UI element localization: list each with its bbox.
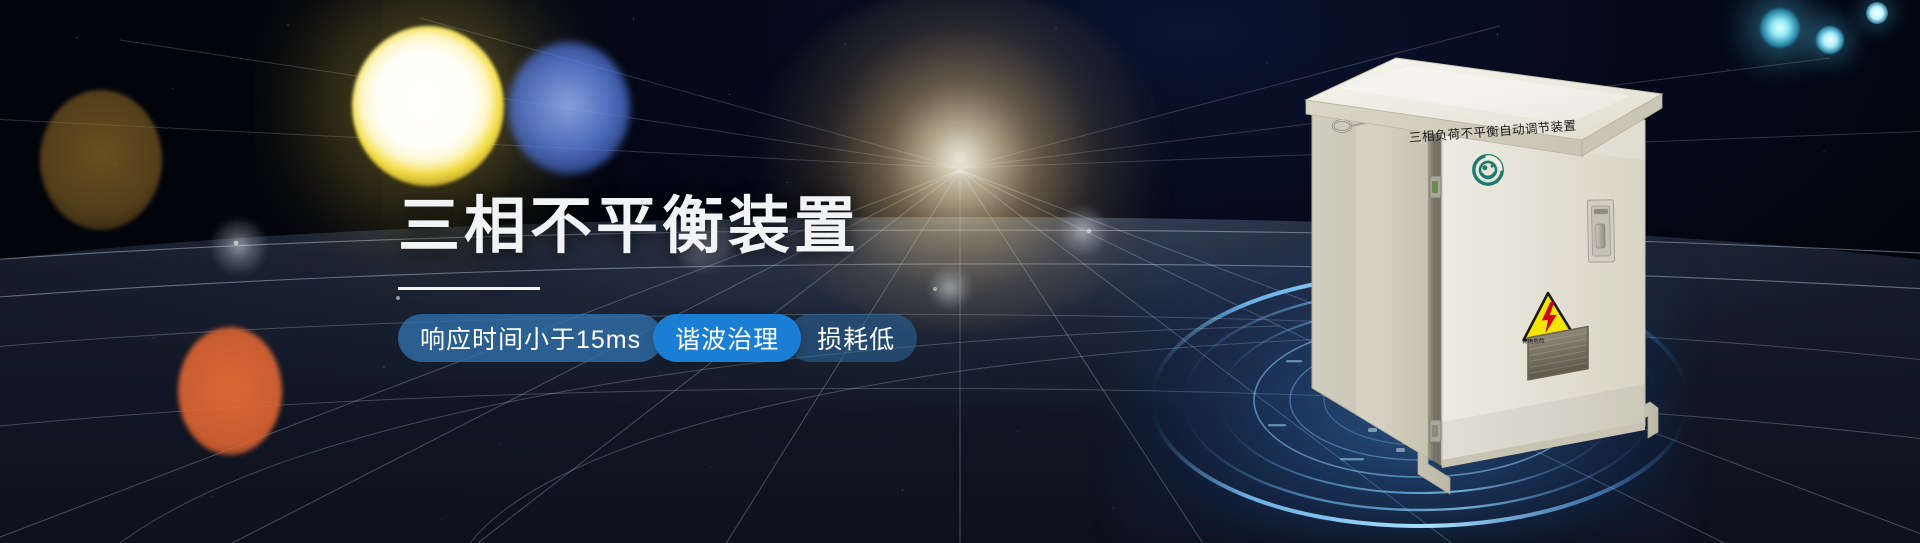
bokeh-cyan-light-2 <box>1816 26 1844 54</box>
page-title: 三相不平衡装置 <box>398 192 917 261</box>
bokeh-cyan-light-1 <box>1760 8 1800 48</box>
lens-flare-5 <box>930 268 970 308</box>
product-hero-banner: 三相不平衡装置 响应时间小于15ms 谐波治理 损耗低 <box>0 0 1920 543</box>
hero-copy-block: 三相不平衡装置 响应时间小于15ms 谐波治理 损耗低 <box>398 192 917 362</box>
door-lock-handle <box>1587 200 1614 263</box>
lens-flare-1 <box>213 220 265 272</box>
feature-badge-low-loss[interactable]: 损耗低 <box>787 314 917 362</box>
product-cabinet <box>1300 28 1720 518</box>
warning-sticker-label: 有电危险 <box>1522 336 1545 345</box>
bokeh-blue-light <box>508 42 630 174</box>
title-divider <box>398 287 540 290</box>
lens-flare-3 <box>1060 208 1106 254</box>
bokeh-cyan-light-3 <box>1866 2 1888 24</box>
feature-badge-harmonic-control[interactable]: 谐波治理 <box>653 314 801 362</box>
feature-badge-response-time[interactable]: 响应时间小于15ms <box>398 314 663 362</box>
feature-badge-list: 响应时间小于15ms 谐波治理 损耗低 <box>398 314 917 362</box>
bokeh-brown-light <box>40 90 162 230</box>
bokeh-white-light <box>352 26 504 186</box>
bokeh-orange-light <box>178 327 282 455</box>
